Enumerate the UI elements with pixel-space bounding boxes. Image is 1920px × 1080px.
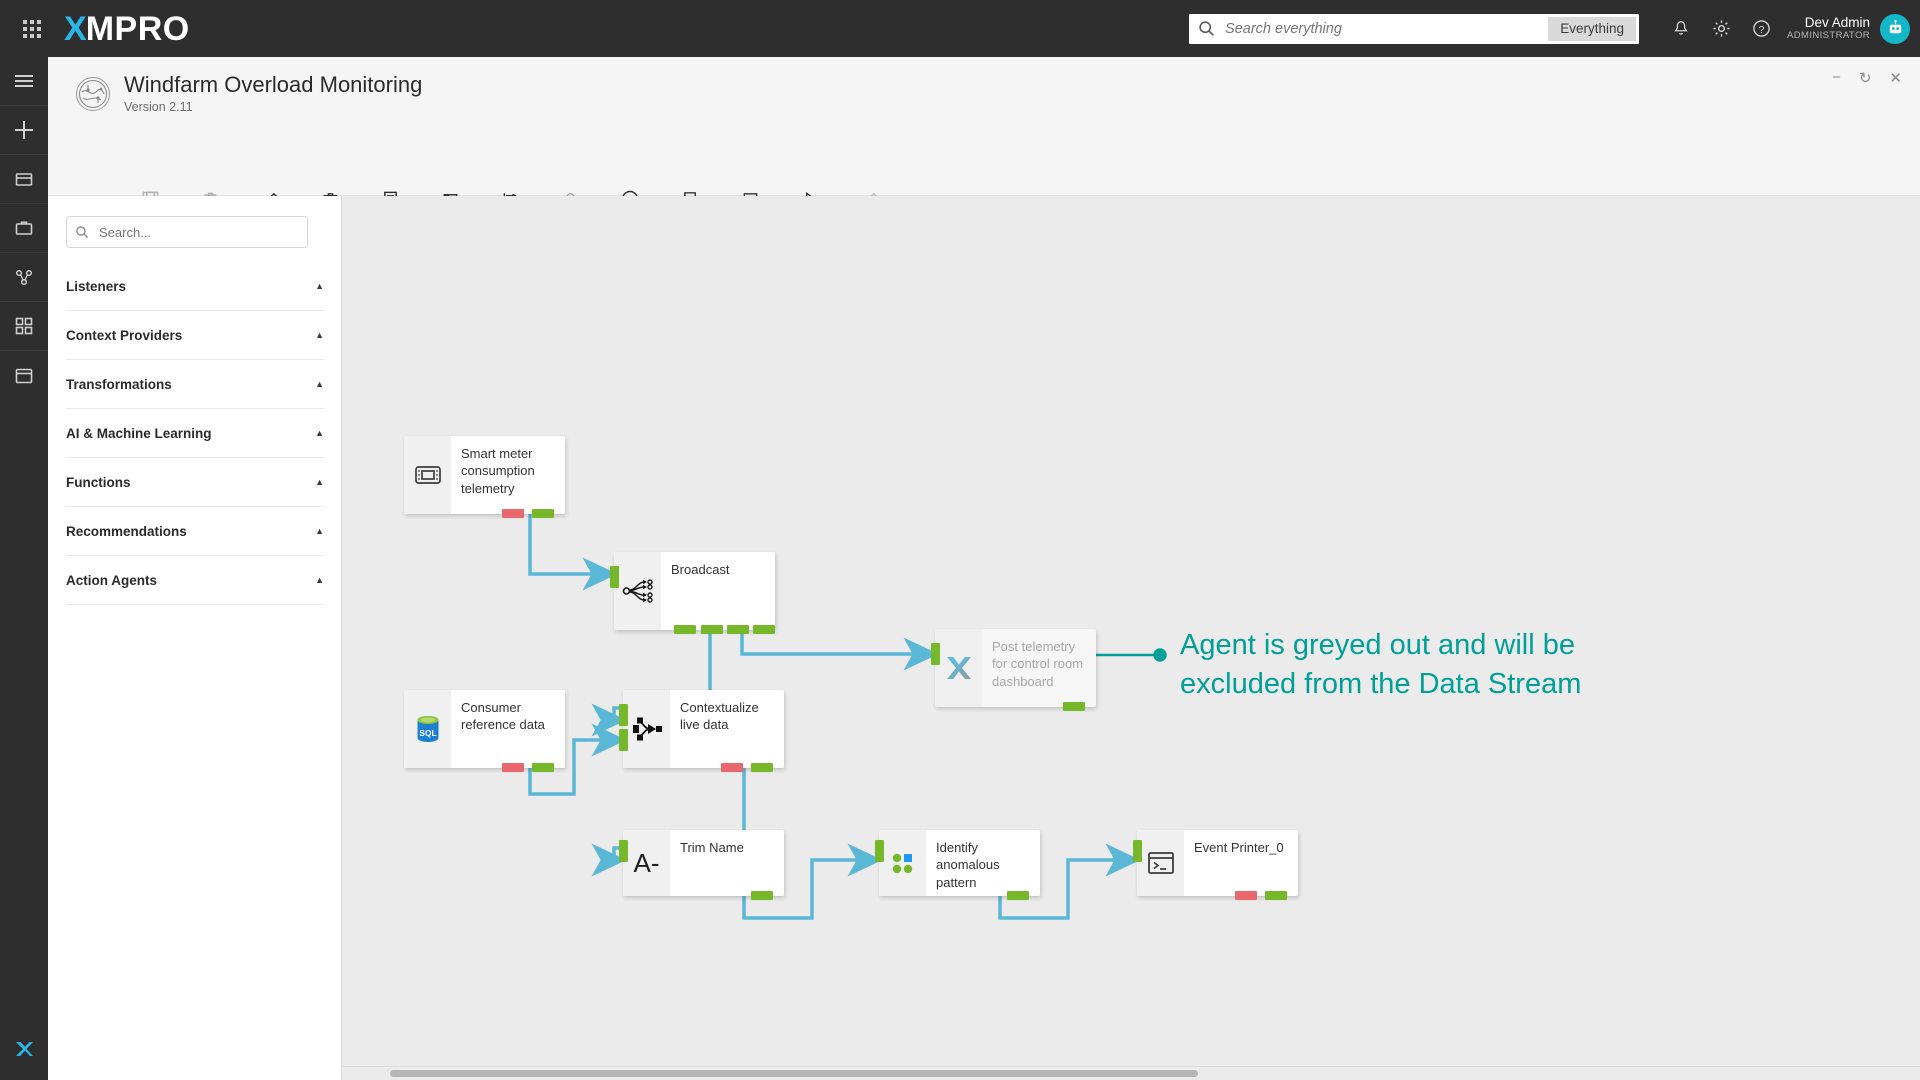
window-panel-icon[interactable] [0, 351, 48, 400]
node-input-port[interactable] [931, 643, 940, 665]
node-title: Smart meter consumption telemetry [461, 445, 557, 497]
svg-text:SQL: SQL [419, 728, 436, 738]
svg-text:?: ? [1758, 25, 1764, 36]
annotation-text: Agent is greyed out and will be excluded… [1180, 626, 1780, 703]
sidebar-item-context-providers[interactable]: Context Providers ▲ [66, 311, 324, 360]
node-title: Identify anomalous pattern [936, 839, 1032, 891]
node-post-telemetry-control-room-dashboard[interactable]: Post telemetry for control room dashboar… [935, 629, 1096, 707]
xmpro-logo[interactable]: X MPRO [64, 12, 190, 46]
chevron-up-icon[interactable]: ▲ [315, 477, 324, 487]
section-label: AI & Machine Learning [66, 426, 212, 441]
sql-database-icon: SQL [404, 690, 451, 768]
page-title: Windfarm Overload Monitoring [124, 73, 422, 97]
node-output-port[interactable] [1265, 891, 1287, 900]
node-identify-anomalous-pattern[interactable]: Identify anomalous pattern [879, 830, 1040, 896]
section-label: Functions [66, 475, 131, 490]
page-header: Windfarm Overload Monitoring Version 2.1… [48, 57, 1920, 196]
gear-icon[interactable] [1701, 19, 1741, 38]
xmpro-x-logo-icon [12, 1037, 36, 1066]
node-input-port[interactable] [619, 729, 628, 751]
node-output-port[interactable] [532, 509, 554, 518]
text-trim-glyph: A- [634, 848, 660, 879]
sidebar-item-transformations[interactable]: Transformations ▲ [66, 360, 324, 409]
brand-x-letter: X [64, 12, 86, 46]
chevron-up-icon[interactable]: ▲ [315, 379, 324, 389]
text-trim-icon: A- [623, 830, 670, 896]
left-rail [0, 57, 48, 1080]
archive-box-icon[interactable] [0, 155, 48, 204]
terminal-console-icon [1137, 830, 1184, 896]
annotation-line-2: excluded from the Data Stream [1180, 665, 1780, 704]
node-trim-name[interactable]: A- Trim Name [623, 830, 784, 896]
toolbox-accordion: Listeners ▲ Context Providers ▲ Transfor… [48, 262, 342, 605]
sidebar-item-listeners[interactable]: Listeners ▲ [66, 262, 324, 311]
hamburger-menu-icon[interactable] [0, 57, 48, 106]
global-search[interactable]: Everything [1189, 14, 1639, 44]
search-icon [1189, 20, 1223, 37]
annotation-line-1: Agent is greyed out and will be [1180, 626, 1780, 665]
user-role: ADMINISTRATOR [1787, 31, 1870, 42]
chevron-up-icon[interactable]: ▲ [315, 330, 324, 340]
flow-canvas[interactable]: Smart meter consumption telemetry [342, 196, 1920, 1080]
node-output-port[interactable] [1063, 702, 1085, 711]
page-version: Version 2.11 [124, 101, 422, 115]
search-scope-button[interactable]: Everything [1548, 17, 1636, 41]
toolbox-search-input[interactable] [97, 224, 307, 241]
node-error-port[interactable] [502, 509, 524, 518]
node-output-port[interactable] [751, 763, 773, 772]
node-output-port[interactable] [727, 625, 749, 634]
node-title: Broadcast [671, 561, 767, 578]
add-plus-icon[interactable] [0, 106, 48, 155]
window-controls: − ↻ ✕ [1832, 69, 1902, 87]
canvas-horizontal-scrollbar[interactable] [342, 1066, 1920, 1080]
node-input-port[interactable] [875, 840, 884, 862]
minimize-icon[interactable]: − [1832, 69, 1841, 87]
node-title: Event Printer_0 [1194, 839, 1290, 856]
close-icon[interactable]: ✕ [1889, 69, 1902, 87]
data-stream-circuit-icon [76, 77, 110, 111]
node-title: Post telemetry for control room dashboar… [992, 638, 1088, 690]
briefcase-icon[interactable] [0, 204, 48, 253]
node-input-port[interactable] [1133, 840, 1142, 862]
chevron-up-icon[interactable]: ▲ [315, 428, 324, 438]
node-smart-meter-consumption-telemetry[interactable]: Smart meter consumption telemetry [404, 436, 565, 514]
user-menu[interactable]: Dev Admin ADMINISTRATOR [1787, 14, 1910, 44]
node-input-port[interactable] [610, 566, 619, 588]
device-telemetry-icon [404, 436, 451, 514]
node-output-port[interactable] [674, 625, 696, 634]
connections-icon[interactable] [0, 253, 48, 302]
node-error-port[interactable] [502, 763, 524, 772]
node-output-port[interactable] [532, 763, 554, 772]
xmpro-data-stream-designer: X MPRO Everything ? Dev Admin [0, 0, 1920, 1080]
user-name: Dev Admin [1787, 15, 1870, 31]
chevron-up-icon[interactable]: ▲ [315, 575, 324, 585]
sidebar-item-recommendations[interactable]: Recommendations ▲ [66, 507, 324, 556]
search-icon [67, 225, 97, 239]
toolbox-search[interactable] [66, 216, 308, 248]
node-input-port[interactable] [619, 704, 628, 726]
node-input-port[interactable] [619, 840, 628, 862]
scrollbar-thumb[interactable] [390, 1070, 1198, 1077]
search-input[interactable] [1223, 20, 1548, 38]
node-contextualize-live-data[interactable]: Contextualize live data [623, 690, 784, 768]
broadcast-fanout-icon [614, 552, 661, 630]
chevron-up-icon[interactable]: ▲ [315, 526, 324, 536]
merge-join-icon [623, 690, 670, 768]
brand-name: MPRO [86, 12, 190, 46]
grid-apps-icon[interactable] [0, 302, 48, 351]
section-label: Transformations [66, 377, 172, 392]
sidebar-item-action-agents[interactable]: Action Agents ▲ [66, 556, 324, 605]
section-label: Listeners [66, 279, 126, 294]
node-consumer-reference-data[interactable]: SQL Consumer reference data [404, 690, 565, 768]
node-output-port[interactable] [1007, 891, 1029, 900]
section-label: Context Providers [66, 328, 182, 343]
section-label: Recommendations [66, 524, 187, 539]
node-output-port[interactable] [753, 625, 775, 634]
node-output-port[interactable] [701, 625, 723, 634]
app-grid-icon[interactable] [8, 20, 56, 38]
help-circle-icon[interactable]: ? [1741, 19, 1781, 38]
top-bar: X MPRO Everything ? Dev Admin [0, 0, 1920, 57]
xmpro-x-logo-icon [935, 629, 982, 707]
sidebar-item-functions[interactable]: Functions ▲ [66, 458, 324, 507]
node-title: Consumer reference data [461, 699, 557, 734]
top-bar-right: Everything ? Dev Admin ADMINISTRATOR [1189, 0, 1920, 57]
sidebar-item-ai-machine-learning[interactable]: AI & Machine Learning ▲ [66, 409, 324, 458]
page-title-row: Windfarm Overload Monitoring Version 2.1… [76, 73, 422, 115]
node-output-port[interactable] [751, 891, 773, 900]
node-event-printer-0[interactable]: Event Printer_0 [1137, 830, 1298, 896]
node-broadcast[interactable]: Broadcast [614, 552, 775, 630]
section-label: Action Agents [66, 573, 157, 588]
node-title: Contextualize live data [680, 699, 776, 734]
robot-avatar-icon[interactable] [1880, 14, 1910, 44]
node-error-port[interactable] [721, 763, 743, 772]
node-title: Trim Name [680, 839, 776, 856]
bell-icon[interactable] [1661, 20, 1701, 38]
toolbox-panel: Listeners ▲ Context Providers ▲ Transfor… [48, 196, 342, 1080]
chevron-up-icon[interactable]: ▲ [315, 281, 324, 291]
anomaly-dots-icon [879, 830, 926, 896]
node-error-port[interactable] [1235, 891, 1257, 900]
annotation-leader [1086, 650, 1166, 661]
refresh-icon[interactable]: ↻ [1859, 69, 1872, 87]
